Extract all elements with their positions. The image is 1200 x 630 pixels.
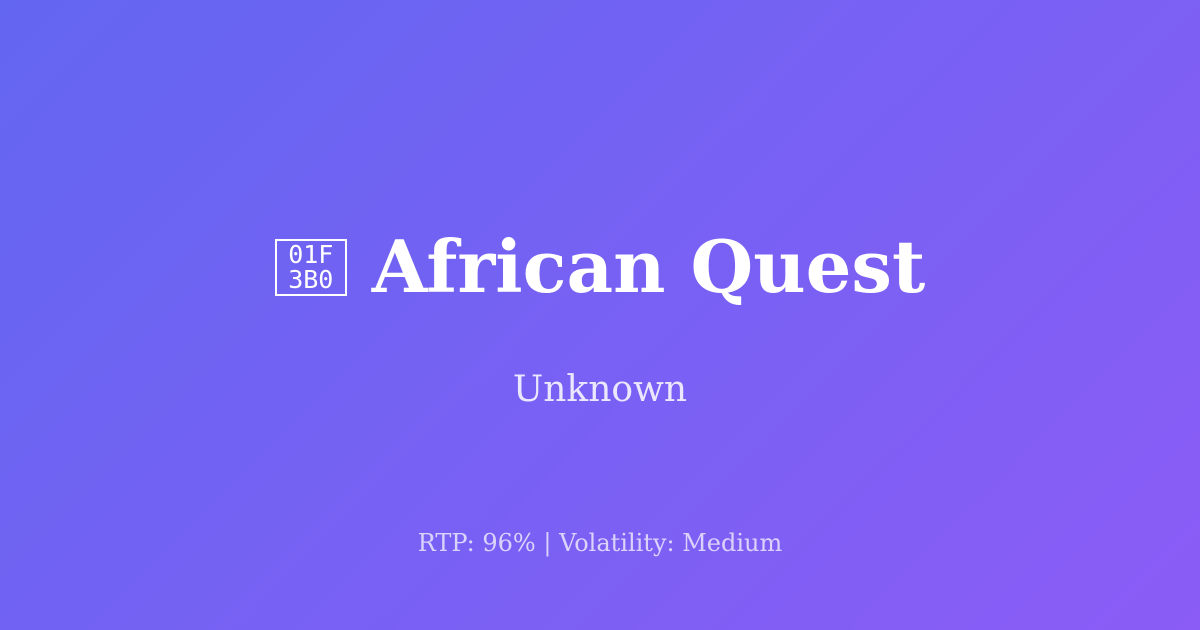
- card-footer: RTP: 96% | Volatility: Medium: [0, 528, 1200, 558]
- tofu-codepoint-top: 01F: [288, 242, 333, 267]
- game-title: African Quest: [372, 228, 925, 306]
- title-row: 01F 3B0 African Quest: [275, 228, 925, 306]
- slot-machine-icon: 01F 3B0: [275, 239, 347, 296]
- game-provider-subtitle: Unknown: [513, 368, 687, 412]
- card-center-stack: 01F 3B0 African Quest Unknown: [0, 228, 1200, 412]
- og-preview-card: 01F 3B0 African Quest Unknown RTP: 96% |…: [0, 0, 1200, 630]
- game-stats-text: RTP: 96% | Volatility: Medium: [418, 529, 783, 557]
- tofu-codepoint-bottom: 3B0: [288, 267, 333, 292]
